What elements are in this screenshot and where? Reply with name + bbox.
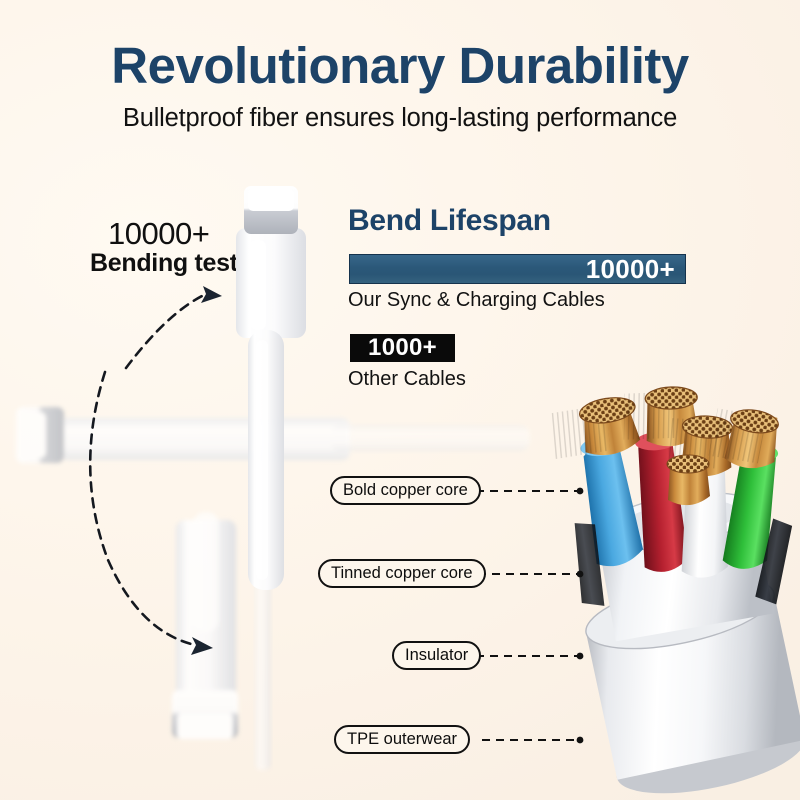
callout-bold-copper-core: Bold copper core [330, 476, 481, 505]
bend-lifespan-title: Bend Lifespan [348, 204, 551, 238]
callout-insulator: Insulator [392, 641, 481, 670]
bending-test-label: Bending test [90, 249, 238, 278]
bar-other-cables-caption: Other Cables [348, 368, 466, 391]
copper-bundle-b [622, 386, 699, 448]
copper-bundle-c [665, 414, 734, 478]
bending-arrow-top [126, 286, 222, 368]
copper-bundle-d [708, 404, 782, 472]
callout-leader-0 [476, 488, 583, 495]
callout-leader-2 [476, 653, 583, 660]
bottom-cable-photo [172, 512, 238, 739]
bar-other-cables: 1000+ [350, 334, 455, 362]
cable-cross-section [547, 386, 800, 800]
left-cable-photo [16, 407, 530, 463]
bar-other-cables-value: 1000+ [368, 334, 437, 362]
bar-our-cables: 10000+ [349, 254, 686, 284]
bending-arrow-curve [90, 372, 213, 655]
page-title: Revolutionary Durability [0, 36, 800, 95]
bar-our-cables-caption: Our Sync & Charging Cables [348, 289, 605, 312]
infographic-canvas: Revolutionary Durability Bulletproof fib… [0, 0, 800, 800]
bar-our-cables-value: 10000+ [586, 254, 685, 285]
callout-tinned-copper-core: Tinned copper core [318, 559, 486, 588]
page-subtitle: Bulletproof fiber ensures long-lasting p… [0, 104, 800, 133]
callout-leader-3 [482, 737, 583, 744]
callout-leader-1 [478, 571, 583, 578]
copper-bundle-a [547, 394, 642, 463]
top-lightning-connector [236, 186, 306, 590]
copper-bundle-e [667, 455, 710, 505]
bending-test-count: 10000+ [108, 216, 209, 252]
callout-tpe-outerwear: TPE outerwear [334, 725, 470, 754]
